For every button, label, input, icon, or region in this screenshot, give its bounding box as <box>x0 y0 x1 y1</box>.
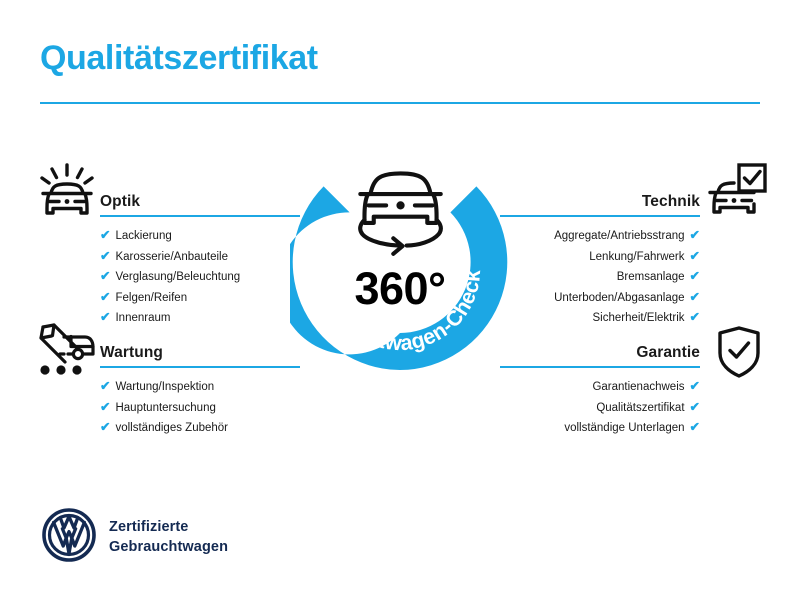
section-items-technik: Aggregate/Antriebsstrang✔ Lenkung/Fahrwe… <box>500 226 700 329</box>
page-title: Qualitätszertifikat <box>40 40 318 77</box>
section-wartung: Wartung ✔Wartung/Inspektion ✔Hauptunters… <box>100 334 300 439</box>
check-icon: ✔ <box>100 249 110 263</box>
shield-check-icon <box>714 325 764 379</box>
section-underline <box>500 215 700 217</box>
list-item: ✔Hauptuntersuchung <box>100 398 300 419</box>
car-front-checkbox-icon <box>708 163 768 219</box>
service-pencil-car-icon <box>38 323 96 377</box>
check-icon: ✔ <box>690 269 700 283</box>
item-label: Sicherheit/Elektrik <box>592 312 684 324</box>
check-icon: ✔ <box>100 420 110 434</box>
item-label: Aggregate/Antriebsstrang <box>554 230 684 242</box>
section-label: Wartung <box>100 344 163 362</box>
section-head-technik: Technik <box>500 183 700 217</box>
check-icon: ✔ <box>690 290 700 304</box>
section-technik: Technik Aggregate/Antriebsstrang✔ Lenkun… <box>500 183 700 329</box>
volkswagen-logo <box>42 508 96 567</box>
section-label: Garantie <box>636 344 700 362</box>
check-icon: ✔ <box>690 420 700 434</box>
quality-certificate-page: Qualitätszertifikat Optik <box>0 0 800 600</box>
check-icon: ✔ <box>690 249 700 263</box>
section-underline <box>500 366 700 368</box>
section-label: Optik <box>100 193 140 211</box>
list-item: Unterboden/Abgasanlage✔ <box>500 288 700 309</box>
check-icon: ✔ <box>100 269 110 283</box>
list-item: ✔Verglasung/Beleuchtung <box>100 267 300 288</box>
list-item: ✔Lackierung <box>100 226 300 247</box>
list-item: ✔Karosserie/Anbauteile <box>100 247 300 268</box>
item-label: Wartung/Inspektion <box>115 381 214 393</box>
section-head-wartung: Wartung <box>100 334 300 368</box>
list-item: Lenkung/Fahrwerk✔ <box>500 247 700 268</box>
list-item: Aggregate/Antriebsstrang✔ <box>500 226 700 247</box>
item-label: Lenkung/Fahrwerk <box>589 251 684 263</box>
check-icon: ✔ <box>690 400 700 414</box>
item-label: vollständiges Zubehör <box>115 422 228 434</box>
item-label: Hauptuntersuchung <box>115 402 215 414</box>
list-item: ✔vollständiges Zubehör <box>100 418 300 439</box>
item-label: Verglasung/Beleuchtung <box>115 271 240 283</box>
badge-360-gebrauchtwagen-check: Gebrauchtwagen-Check 360° <box>290 152 510 387</box>
section-underline <box>100 215 300 217</box>
list-item: Qualitätszertifikat✔ <box>500 398 700 419</box>
list-item: ✔Felgen/Reifen <box>100 288 300 309</box>
section-underline <box>100 366 300 368</box>
footer-brand: Zertifizierte Gebrauchtwagen <box>42 508 228 567</box>
list-item: vollständige Unterlagen✔ <box>500 418 700 439</box>
brand-line-2: Gebrauchtwagen <box>109 538 228 557</box>
check-icon: ✔ <box>100 310 110 324</box>
check-icon: ✔ <box>690 228 700 242</box>
item-label: Garantienachweis <box>592 381 684 393</box>
car-front-shine-icon <box>38 163 96 219</box>
car-rotate-360-icon <box>360 173 441 253</box>
list-item: Bremsanlage✔ <box>500 267 700 288</box>
brand-line-1: Zertifizierte <box>109 518 228 537</box>
header-divider <box>40 102 760 104</box>
section-head-optik: Optik <box>100 183 300 217</box>
item-label: vollständige Unterlagen <box>564 422 684 434</box>
section-label: Technik <box>642 193 700 211</box>
item-label: Qualitätszertifikat <box>596 402 684 414</box>
section-items-wartung: ✔Wartung/Inspektion ✔Hauptuntersuchung ✔… <box>100 377 300 439</box>
list-item: ✔Wartung/Inspektion <box>100 377 300 398</box>
check-icon: ✔ <box>100 379 110 393</box>
section-optik: Optik ✔Lackierung ✔Karosserie/Anbauteile… <box>100 183 300 329</box>
section-items-garantie: Garantienachweis✔ Qualitätszertifikat✔ v… <box>500 377 700 439</box>
item-label: Felgen/Reifen <box>115 292 187 304</box>
item-label: Lackierung <box>115 230 171 242</box>
item-label: Innenraum <box>115 312 170 324</box>
badge-center-label: 360° <box>354 263 445 314</box>
item-label: Unterboden/Abgasanlage <box>554 292 684 304</box>
check-icon: ✔ <box>690 310 700 324</box>
section-head-garantie: Garantie <box>500 334 700 368</box>
list-item: ✔Innenraum <box>100 308 300 329</box>
check-icon: ✔ <box>690 379 700 393</box>
item-label: Bremsanlage <box>617 271 685 283</box>
section-items-optik: ✔Lackierung ✔Karosserie/Anbauteile ✔Verg… <box>100 226 300 329</box>
check-icon: ✔ <box>100 228 110 242</box>
section-garantie: Garantie Garantienachweis✔ Qualitätszert… <box>500 334 700 439</box>
item-label: Karosserie/Anbauteile <box>115 251 228 263</box>
list-item: Garantienachweis✔ <box>500 377 700 398</box>
list-item: Sicherheit/Elektrik✔ <box>500 308 700 329</box>
check-icon: ✔ <box>100 290 110 304</box>
check-icon: ✔ <box>100 400 110 414</box>
brand-wordmark: Zertifizierte Gebrauchtwagen <box>109 518 228 556</box>
